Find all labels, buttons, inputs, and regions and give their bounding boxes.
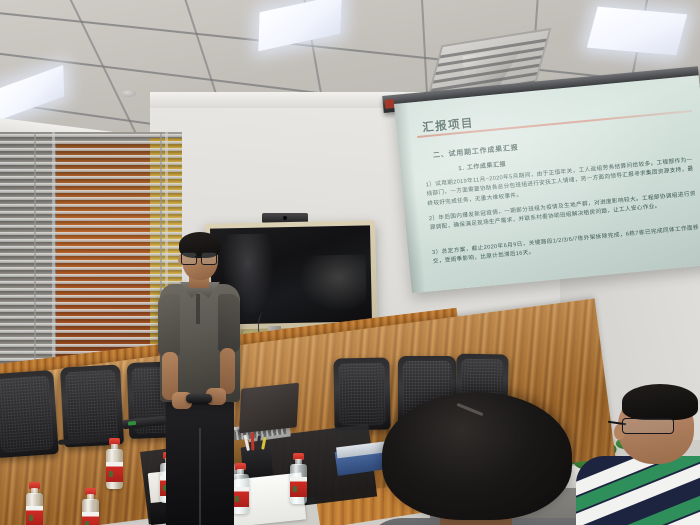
glasses-icon: [181, 252, 215, 263]
ceiling-light-panel: [0, 65, 64, 121]
ceiling-light-panel: [587, 6, 688, 55]
projection-screen: 汇报项目 二、试用期工作成果汇报 1. 工作成果汇报 1）试用期2019年11月…: [394, 75, 700, 293]
meeting-room-photo: 汇报项目 二、试用期工作成果汇报 1. 工作成果汇报 1）试用期2019年11月…: [0, 0, 700, 525]
laptop-screen: [239, 383, 299, 434]
smoke-detector-icon: [121, 90, 136, 97]
attendee-person-right: [582, 398, 700, 525]
presenter-person: [158, 236, 242, 525]
attendee-person-center: [382, 392, 582, 525]
glasses-icon: [622, 418, 674, 434]
striped-polo-shirt: [576, 456, 700, 525]
blind-cord[interactable]: [34, 132, 36, 390]
presentation-clicker[interactable]: [186, 394, 212, 403]
